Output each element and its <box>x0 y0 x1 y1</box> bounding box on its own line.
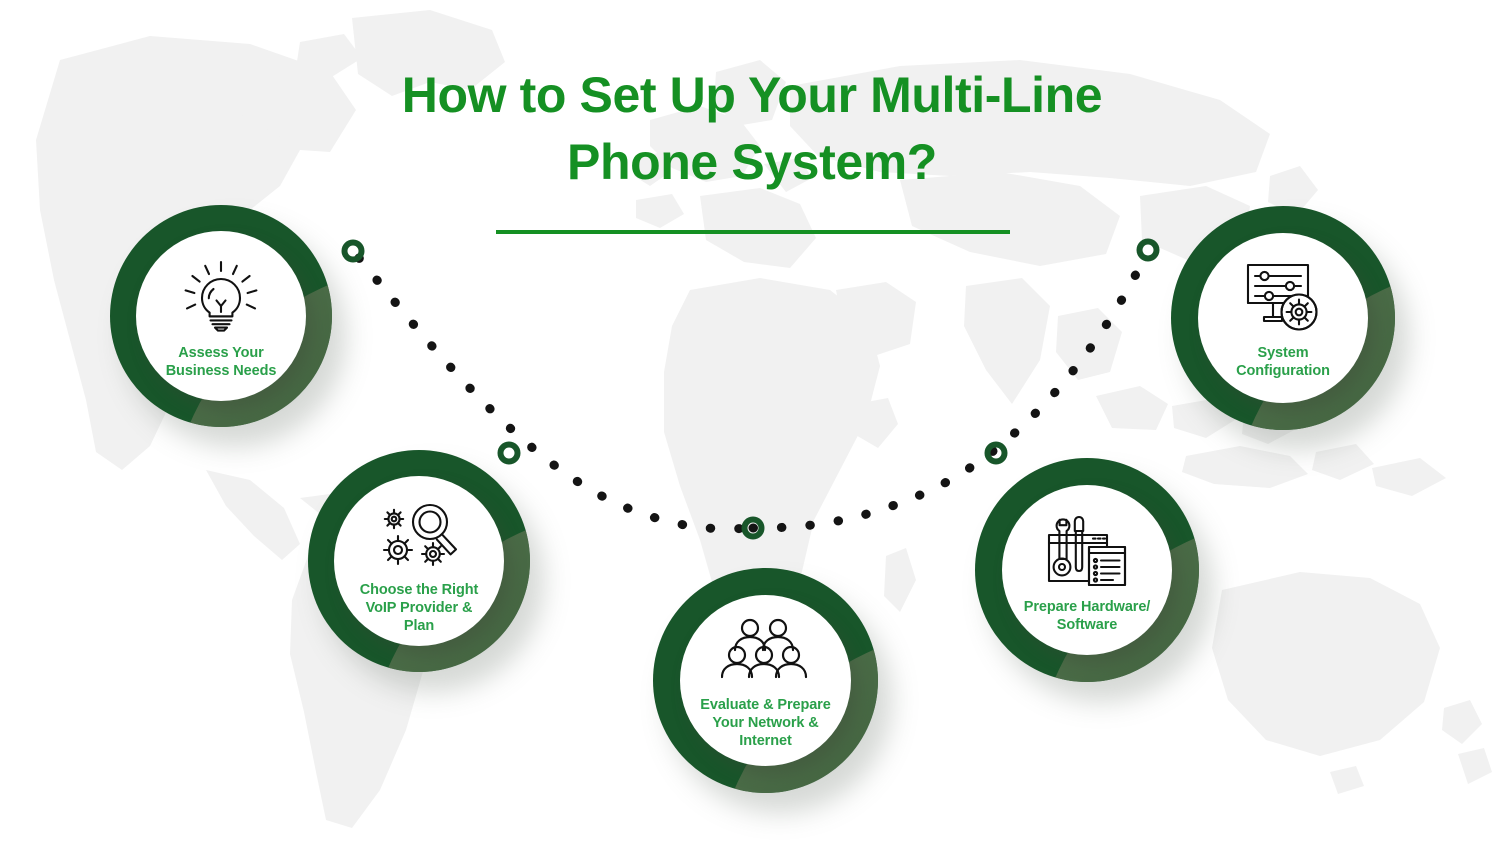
monitor-sliders-gear-icon <box>1242 259 1324 333</box>
step-3-label: Evaluate & Prepare Your Network & Intern… <box>694 697 836 751</box>
title-underline-rule <box>496 230 1010 234</box>
people-group-icon <box>721 617 811 687</box>
step-node-1[interactable]: Assess Your Business Needs <box>110 205 332 427</box>
step-3-inner-circle: Evaluate & Prepare Your Network & Intern… <box>680 595 851 766</box>
step-2-inner-circle: Choose the Right VoIP Provider & Plan <box>334 476 504 646</box>
lightbulb-icon <box>182 259 260 333</box>
step-node-2[interactable]: Choose the Right VoIP Provider & Plan <box>308 450 530 672</box>
step-4-label: Prepare Hardware/ Software <box>1018 599 1156 635</box>
gears-magnifier-icon <box>376 500 462 572</box>
step-1-label: Assess Your Business Needs <box>160 345 283 381</box>
step-4-inner-circle: Prepare Hardware/ Software <box>1002 485 1172 655</box>
step-node-5[interactable]: System Configuration <box>1171 206 1395 430</box>
step-node-4[interactable]: Prepare Hardware/ Software <box>975 458 1199 682</box>
infographic-canvas: How to Set Up Your Multi-Line Phone Syst… <box>0 0 1504 846</box>
step-node-3[interactable]: Evaluate & Prepare Your Network & Intern… <box>653 568 878 793</box>
title-block: How to Set Up Your Multi-Line Phone Syst… <box>352 62 1152 195</box>
step-1-inner-circle: Assess Your Business Needs <box>136 231 306 401</box>
step-5-label: System Configuration <box>1230 345 1336 381</box>
step-5-inner-circle: System Configuration <box>1198 233 1368 403</box>
tools-document-icon <box>1045 511 1129 587</box>
page-title: How to Set Up Your Multi-Line Phone Syst… <box>352 62 1152 195</box>
step-2-label: Choose the Right VoIP Provider & Plan <box>354 582 484 636</box>
